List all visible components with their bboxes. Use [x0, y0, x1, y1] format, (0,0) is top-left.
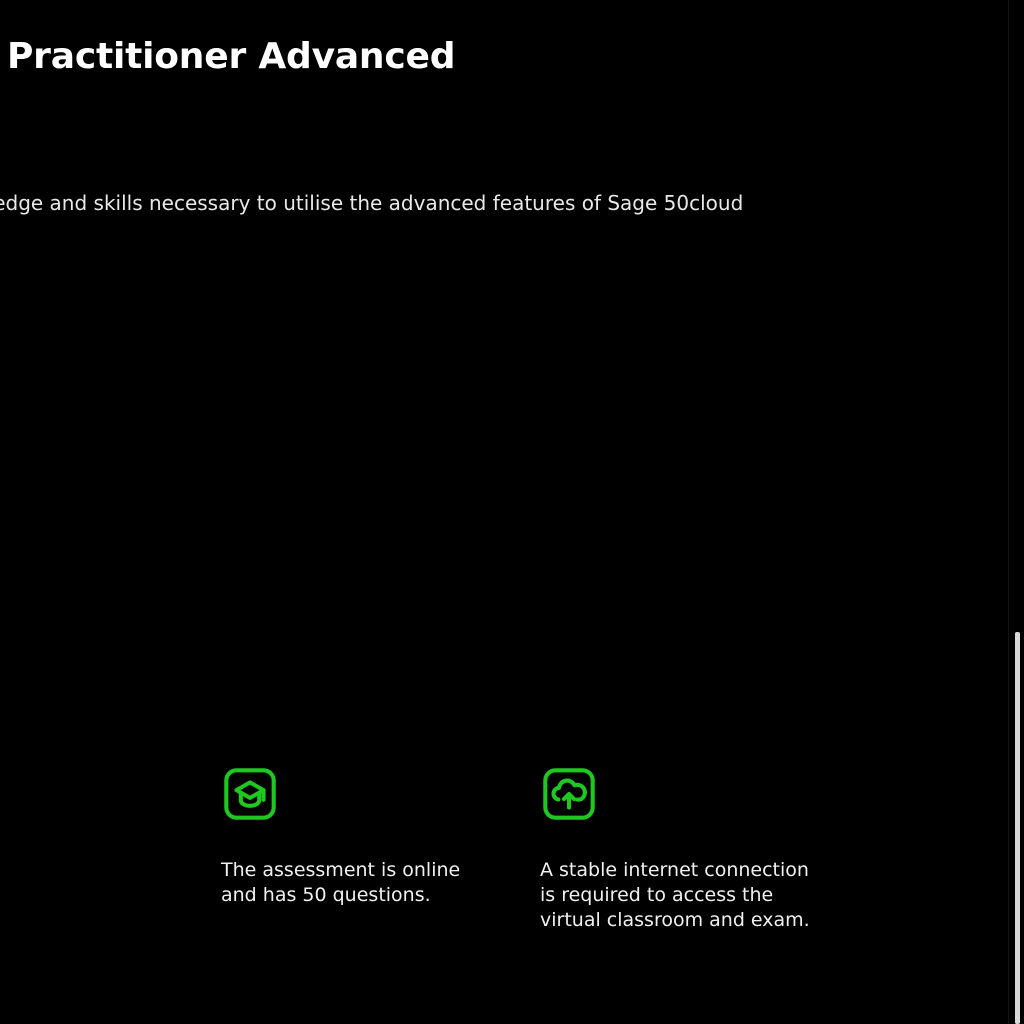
info-column-delivery-text: ing course e available: ated Classroom C… [0, 858, 100, 958]
vertical-scrollbar[interactable] [1010, 0, 1024, 1024]
info-column-assessment-text: The assessment is online and has 50 ques… [221, 858, 551, 908]
info-column-internet-text: A stable internet connection is required… [540, 858, 870, 933]
info-columns: ing course e available: ated Classroom C… [0, 765, 1010, 965]
scrollbar-thumb[interactable] [1015, 632, 1020, 1024]
info-column-delivery: ing course e available: ated Classroom C… [0, 765, 100, 958]
course-intro-paragraph: ve you the knowledge and skills necessar… [0, 188, 743, 218]
cloud-upload-icon [540, 765, 598, 823]
page-viewport: Practitioner Advanced ve you the knowled… [0, 0, 1010, 1024]
page-title: Practitioner Advanced [7, 36, 455, 77]
info-column-assessment: The assessment is online and has 50 ques… [221, 765, 551, 908]
graduation-cap-icon [221, 765, 279, 823]
page-content: Practitioner Advanced ve you the knowled… [0, 0, 1010, 1024]
page-right-edge [1008, 0, 1009, 1024]
info-column-internet: A stable internet connection is required… [540, 765, 870, 933]
